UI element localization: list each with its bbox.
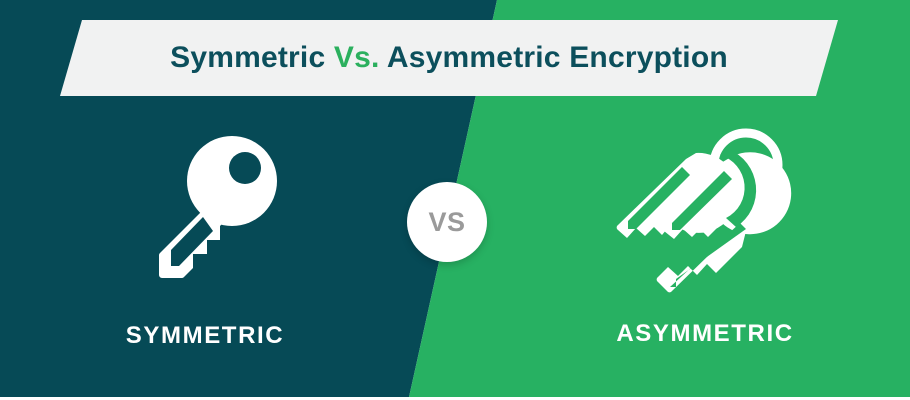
page-title: Symmetric Vs. Asymmetric Encryption [170, 43, 728, 73]
title-segment-symmetric: Symmetric [170, 41, 334, 74]
asymmetric-label: ASYMMETRIC [616, 320, 793, 348]
title-segment-asymmetric: Asymmetric Encryption [380, 41, 728, 74]
asymmetric-section: ASYMMETRIC [500, 110, 910, 380]
vs-label: VS [428, 209, 465, 236]
symmetric-label: SYMMETRIC [126, 322, 284, 350]
symmetric-icon-wrap [127, 110, 283, 310]
symmetric-section: SYMMETRIC [0, 110, 410, 380]
title-segment-vs: Vs. [334, 41, 380, 74]
title-banner: Symmetric Vs. Asymmetric Encryption [60, 20, 838, 96]
single-key-icon [127, 134, 283, 286]
infographic-canvas: Symmetric Vs. Asymmetric Encryption [0, 0, 910, 400]
asymmetric-icon-wrap [600, 110, 810, 310]
vs-badge: VS [407, 182, 487, 262]
key-pair-keyring-icon [600, 119, 810, 301]
